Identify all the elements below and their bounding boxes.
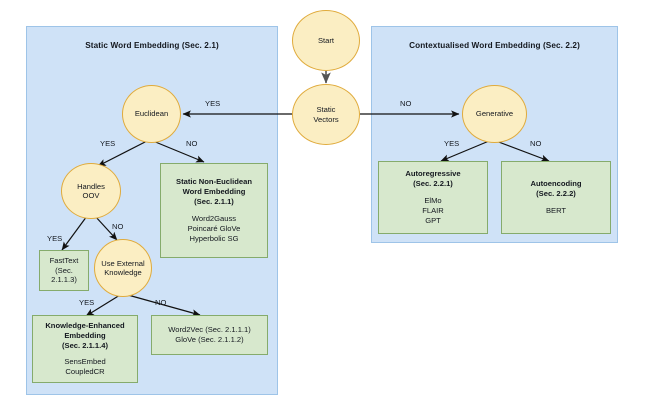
node-use-external-knowledge-label: Use External Knowledge: [101, 259, 144, 278]
node-use-external-knowledge[interactable]: Use External Knowledge: [94, 239, 152, 297]
node-generative-label: Generative: [476, 109, 513, 118]
edge-label-euclidean-no: NO: [186, 139, 197, 148]
flowchart-canvas: Static Word Embedding (Sec. 2.1) Context…: [0, 0, 646, 410]
box-static-non-euclidean[interactable]: Static Non-Euclidean Word Embedding (Sec…: [160, 163, 268, 258]
node-static-vectors-label: Static Vectors: [313, 105, 338, 124]
edge-label-external-no: NO: [155, 298, 166, 307]
node-static-vectors[interactable]: Static Vectors: [292, 84, 360, 145]
box-word2vec-glove[interactable]: Word2Vec (Sec. 2.1.1.1) GloVe (Sec. 2.1.…: [151, 315, 268, 355]
box-word2vec-glove-label: Word2Vec (Sec. 2.1.1.1) GloVe (Sec. 2.1.…: [168, 325, 251, 345]
node-generative[interactable]: Generative: [462, 85, 527, 143]
edge-label-static-to-euclidean: YES: [205, 99, 220, 108]
box-autoregressive[interactable]: Autoregressive (Sec. 2.2.1) ElMo FLAIR G…: [378, 161, 488, 234]
box-static-non-euclidean-body: Word2Gauss Poincaré GloVe Hyperbolic SG: [188, 214, 241, 244]
box-fasttext-label: FastText (Sec. 2.1.1.3): [50, 256, 79, 286]
box-autoencoding-body: BERT: [546, 206, 566, 216]
edge-label-oov-yes: YES: [47, 234, 62, 243]
box-knowledge-enhanced-header: Knowledge-Enhanced Embedding (Sec. 2.1.1…: [45, 321, 124, 351]
node-handles-oov-label: Handles OOV: [77, 182, 105, 201]
edge-label-generative-yes: YES: [444, 139, 459, 148]
box-autoregressive-header: Autoregressive (Sec. 2.2.1): [405, 169, 460, 189]
box-knowledge-enhanced-body: SensEmbed CoupledCR: [64, 357, 105, 377]
edge-label-oov-no: NO: [112, 222, 123, 231]
node-start-label: Start: [318, 36, 334, 45]
edge-label-external-yes: YES: [79, 298, 94, 307]
node-handles-oov[interactable]: Handles OOV: [61, 163, 121, 219]
node-euclidean-label: Euclidean: [135, 109, 168, 118]
box-fasttext[interactable]: FastText (Sec. 2.1.1.3): [39, 250, 89, 291]
box-knowledge-enhanced[interactable]: Knowledge-Enhanced Embedding (Sec. 2.1.1…: [32, 315, 138, 383]
group-contextualised-title: Contextualised Word Embedding (Sec. 2.2): [372, 41, 617, 50]
box-autoencoding[interactable]: Autoencoding (Sec. 2.2.2) BERT: [501, 161, 611, 234]
box-static-non-euclidean-header: Static Non-Euclidean Word Embedding (Sec…: [176, 177, 252, 207]
box-autoencoding-header: Autoencoding (Sec. 2.2.2): [530, 179, 581, 199]
group-static-title: Static Word Embedding (Sec. 2.1): [27, 41, 277, 50]
edge-label-euclidean-yes: YES: [100, 139, 115, 148]
edge-label-generative-no: NO: [530, 139, 541, 148]
node-start[interactable]: Start: [292, 10, 360, 71]
edge-label-static-to-generative: NO: [400, 99, 411, 108]
node-euclidean[interactable]: Euclidean: [122, 85, 181, 143]
box-autoregressive-body: ElMo FLAIR GPT: [422, 196, 444, 226]
